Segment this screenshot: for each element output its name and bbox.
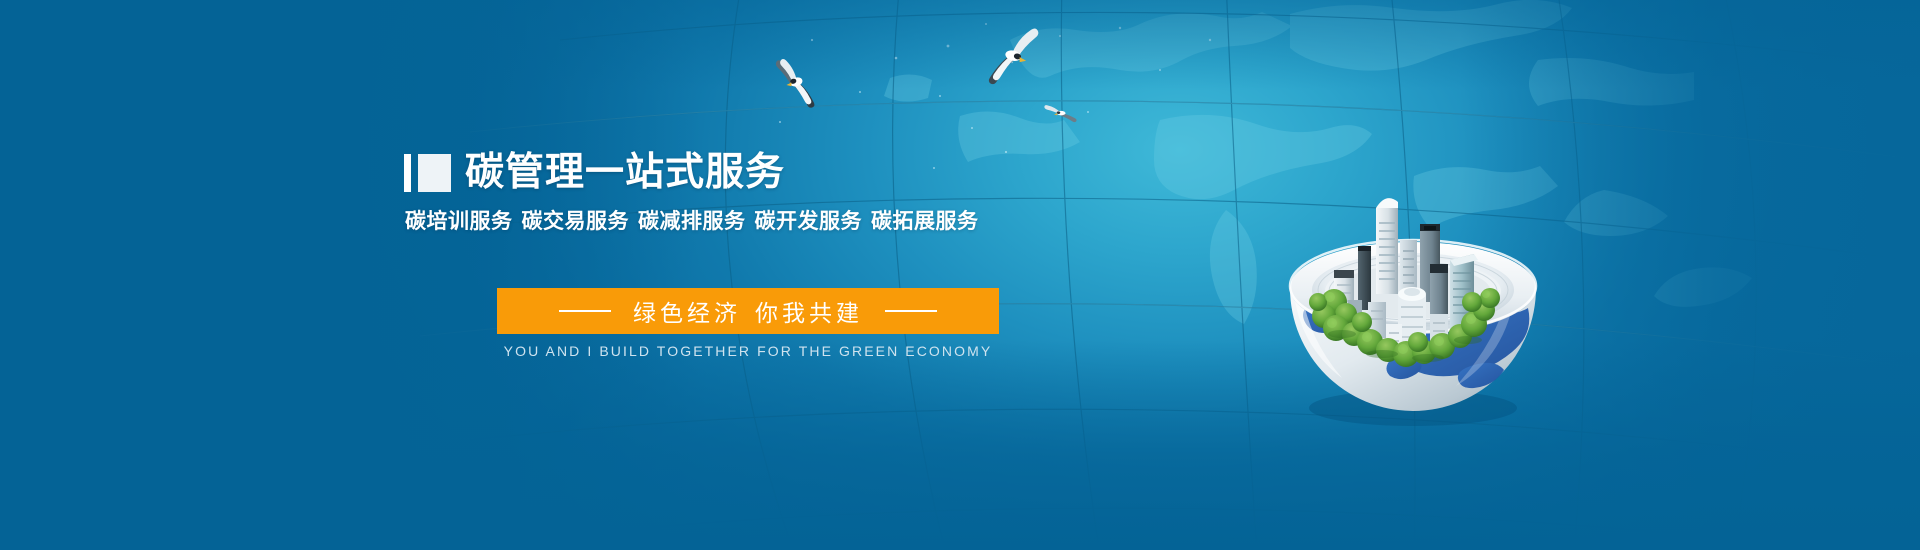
service-item-5: 碳拓展服务 bbox=[871, 210, 979, 233]
slogan-banner: 绿色经济你我共建 bbox=[497, 288, 999, 334]
seagull-icon bbox=[1040, 100, 1084, 128]
background-top-fade bbox=[0, 0, 1920, 90]
service-list: 碳培训服务碳交易服务碳减排服务碳开发服务碳拓展服务 bbox=[405, 205, 1184, 235]
brand-mark-square bbox=[418, 154, 451, 192]
earth-hemisphere-illustration bbox=[1272, 182, 1554, 432]
page-title: 碳管理一站式服务 bbox=[465, 151, 785, 195]
brand-mark-bar bbox=[404, 154, 411, 192]
promo-banner: 碳管理一站式服务 碳培训服务碳交易服务碳减排服务碳开发服务碳拓展服务 绿色经济你… bbox=[0, 0, 1920, 550]
service-item-2: 碳交易服务 bbox=[522, 210, 630, 233]
service-item-3: 碳减排服务 bbox=[638, 210, 746, 233]
background-bottom-fade bbox=[0, 340, 1920, 550]
banner-text-block: 碳管理一站式服务 碳培训服务碳交易服务碳减排服务碳开发服务碳拓展服务 bbox=[404, 148, 1184, 235]
slogan-rule-right bbox=[885, 310, 937, 312]
slogan-right: 你我共建 bbox=[755, 300, 863, 326]
seagull-icon bbox=[764, 54, 830, 116]
brand-mark-icon bbox=[404, 154, 451, 192]
title-row: 碳管理一站式服务 bbox=[404, 148, 1184, 198]
slogan-left: 绿色经济 bbox=[633, 300, 741, 326]
seagull-icon bbox=[972, 24, 1050, 96]
english-tagline: YOU AND I BUILD TOGETHER FOR THE GREEN E… bbox=[497, 343, 999, 359]
service-item-1: 碳培训服务 bbox=[405, 210, 513, 233]
service-item-4: 碳开发服务 bbox=[755, 210, 863, 233]
slogan-text: 绿色经济你我共建 bbox=[633, 294, 863, 328]
slogan-rule-left bbox=[559, 310, 611, 312]
